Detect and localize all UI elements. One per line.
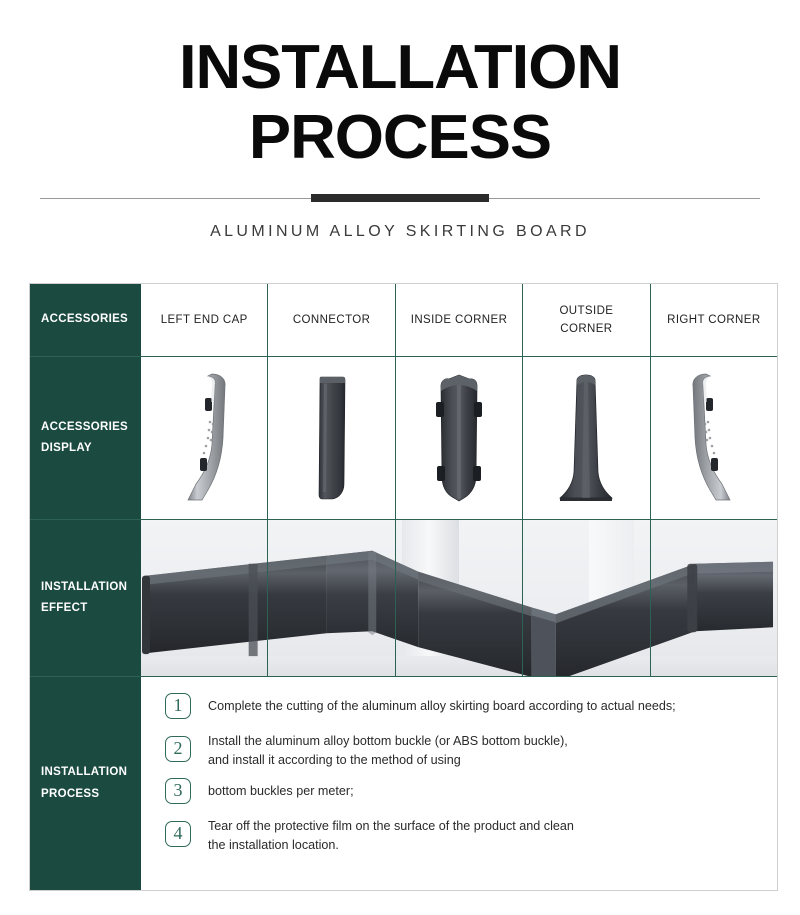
product-cell-inside-corner — [395, 357, 522, 519]
process-steps-list: 1 Complete the cutting of the aluminum a… — [141, 677, 777, 890]
step-number-badge-1: 1 — [165, 693, 191, 719]
table-row-installation-process: INSTALLATION PROCESS 1 Complete the cutt… — [30, 676, 777, 890]
header-cells: LEFT END CAP CONNECTOR INSIDE CORNER OUT… — [141, 284, 777, 356]
product-cell-outside-corner — [522, 357, 649, 519]
display-cells — [141, 357, 777, 519]
header-cell-outside-corner: OUTSIDE CORNER — [522, 284, 649, 356]
step-text-3: bottom buckles per meter; — [208, 778, 354, 801]
product-cell-right-corner — [650, 357, 777, 519]
process-step-1: 1 Complete the cutting of the aluminum a… — [165, 693, 767, 719]
page-subtitle: ALUMINUM ALLOY SKIRTING BOARD — [0, 223, 800, 241]
product-cell-left-end-cap — [141, 357, 267, 519]
product-cell-connector — [267, 357, 394, 519]
left-end-cap-icon — [178, 372, 230, 504]
skirting-board-render — [141, 520, 777, 676]
row-label-installation-effect: INSTALLATION EFFECT — [30, 520, 141, 676]
header-cell-right-corner: RIGHT CORNER — [650, 284, 777, 356]
installation-effect-photo — [141, 520, 777, 676]
inside-corner-icon — [427, 372, 491, 504]
step-number-badge-4: 4 — [165, 821, 191, 847]
title-block: INSTALLATION PROCESS ALUMINUM ALLOY SKIR… — [0, 0, 800, 241]
row-label-installation-process: INSTALLATION PROCESS — [30, 677, 141, 890]
process-step-3: 3 bottom buckles per meter; — [165, 778, 767, 804]
right-corner-icon — [688, 372, 740, 504]
step-text-1: Complete the cutting of the aluminum all… — [208, 693, 676, 716]
table-row-accessories-display: ACCESSORIES DISPLAY — [30, 356, 777, 519]
step-number-badge-2: 2 — [165, 736, 191, 762]
page-title-line-1: INSTALLATION — [0, 36, 800, 100]
connector-icon — [310, 372, 354, 504]
process-step-4: 4 Tear off the protective film on the su… — [165, 813, 767, 854]
accessories-table: ACCESSORIES LEFT END CAP CONNECTOR INSID… — [29, 283, 778, 891]
header-cell-left-end-cap: LEFT END CAP — [141, 284, 267, 356]
table-row-installation-effect: INSTALLATION EFFECT — [30, 519, 777, 676]
header-cell-inside-corner: INSIDE CORNER — [395, 284, 522, 356]
process-step-2: 2 Install the aluminum alloy bottom buck… — [165, 728, 767, 769]
page-title-line-2: PROCESS — [0, 106, 800, 170]
row-label-accessories: ACCESSORIES — [30, 284, 141, 356]
infographic-page: INSTALLATION PROCESS ALUMINUM ALLOY SKIR… — [0, 0, 800, 915]
row-label-accessories-display: ACCESSORIES DISPLAY — [30, 357, 141, 519]
step-text-2: Install the aluminum alloy bottom buckle… — [208, 728, 568, 769]
header-cell-connector: CONNECTOR — [267, 284, 394, 356]
title-divider — [40, 192, 760, 206]
step-number-badge-3: 3 — [165, 778, 191, 804]
table-row-header: ACCESSORIES LEFT END CAP CONNECTOR INSID… — [30, 284, 777, 356]
step-text-4: Tear off the protective film on the surf… — [208, 813, 574, 854]
divider-accent-bar — [311, 194, 489, 202]
outside-corner-icon — [554, 372, 618, 504]
